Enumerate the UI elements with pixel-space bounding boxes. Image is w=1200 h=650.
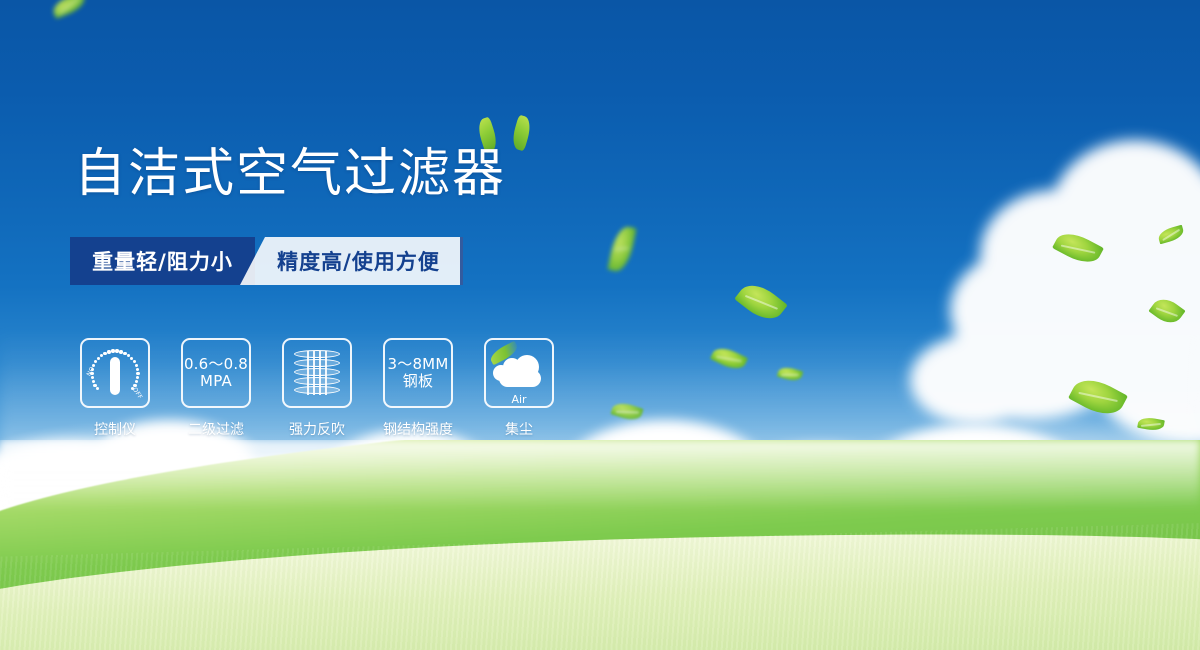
- feature-list: NO OFF 控制仪 0.6〜0.8 MPA 二级过滤: [80, 338, 585, 439]
- feature-label: 集尘: [484, 419, 554, 439]
- subtitle-right-panel: 精度高/使用方便: [240, 237, 463, 285]
- pressure-value: 0.6〜0.8: [184, 356, 248, 373]
- subtitle-right-text: 精度高/使用方便: [277, 246, 440, 276]
- feature-item-blowback[interactable]: 强力反吹: [282, 338, 352, 439]
- gauge-dial-icon: NO OFF: [87, 345, 143, 401]
- air-label: Air: [493, 393, 545, 406]
- gauge-tick-dot: [115, 349, 118, 352]
- feature-icon-box: 3〜8MM 钢板: [383, 338, 453, 408]
- gauge-tick-dot: [96, 387, 99, 390]
- subtitle-left-text: 重量轻/阻力小: [92, 246, 233, 276]
- feature-item-steel[interactable]: 3〜8MM 钢板 钢结构强度: [383, 338, 453, 439]
- steel-material: 钢板: [388, 373, 449, 390]
- gauge-tick-dot: [119, 350, 122, 353]
- subtitle-right-edge: [460, 237, 463, 285]
- feature-icon-box: 0.6〜0.8 MPA: [181, 338, 251, 408]
- page-title: 自洁式空气过滤器: [74, 143, 506, 205]
- feature-item-controller[interactable]: NO OFF 控制仪: [80, 338, 150, 439]
- filter-stack-icon: [294, 348, 340, 398]
- gauge-tick-dot: [136, 368, 139, 371]
- gauge-tick-dot: [94, 360, 97, 363]
- feature-icon-box: [282, 338, 352, 408]
- gauge-tick-dot: [103, 352, 106, 355]
- subtitle-left-panel: 重量轻/阻力小: [70, 237, 255, 285]
- feature-item-dust[interactable]: Air 集尘: [484, 338, 554, 439]
- gauge-tick-dot: [136, 372, 139, 375]
- feature-icon-box: Air: [484, 338, 554, 408]
- feature-item-pressure[interactable]: 0.6〜0.8 MPA 二级过滤: [181, 338, 251, 439]
- steel-plate-text-icon: 3〜8MM 钢板: [388, 356, 449, 390]
- gauge-tick-dot: [133, 360, 136, 363]
- feature-label: 控制仪: [80, 419, 150, 439]
- gauge-tick-dot: [133, 384, 136, 387]
- gauge-tick-dot: [91, 376, 94, 379]
- gauge-tick-dot: [92, 380, 95, 383]
- air-cloud-icon: Air: [493, 353, 545, 393]
- feature-icon-box: NO OFF: [80, 338, 150, 408]
- cloud-base: [499, 370, 541, 387]
- steel-thickness: 3〜8MM: [388, 356, 449, 373]
- gauge-needle-icon: [110, 357, 120, 395]
- gauge-tick-dot: [136, 376, 139, 379]
- gauge-tick-dot: [135, 364, 138, 367]
- gauge-tick-dot: [90, 372, 93, 375]
- ground-glow: [0, 440, 1200, 510]
- pressure-unit: MPA: [184, 373, 248, 390]
- grass-field: [0, 440, 1200, 650]
- feature-label: 钢结构强度: [383, 419, 453, 439]
- gauge-tick-dot: [111, 349, 114, 352]
- gauge-tick-dot: [92, 364, 95, 367]
- gauge-tick-dot: [107, 350, 110, 353]
- feature-label: 强力反吹: [282, 419, 352, 439]
- feature-label: 二级过滤: [181, 419, 251, 439]
- banner-stage: 自洁式空气过滤器 重量轻/阻力小 精度高/使用方便 NO OFF 控制仪: [0, 0, 1200, 650]
- gauge-tick-dot: [135, 380, 138, 383]
- gauge-tick-dot: [91, 368, 94, 371]
- gauge-tick-dot: [97, 357, 100, 360]
- pressure-text-icon: 0.6〜0.8 MPA: [184, 356, 248, 390]
- gauge-tick-dot: [93, 384, 96, 387]
